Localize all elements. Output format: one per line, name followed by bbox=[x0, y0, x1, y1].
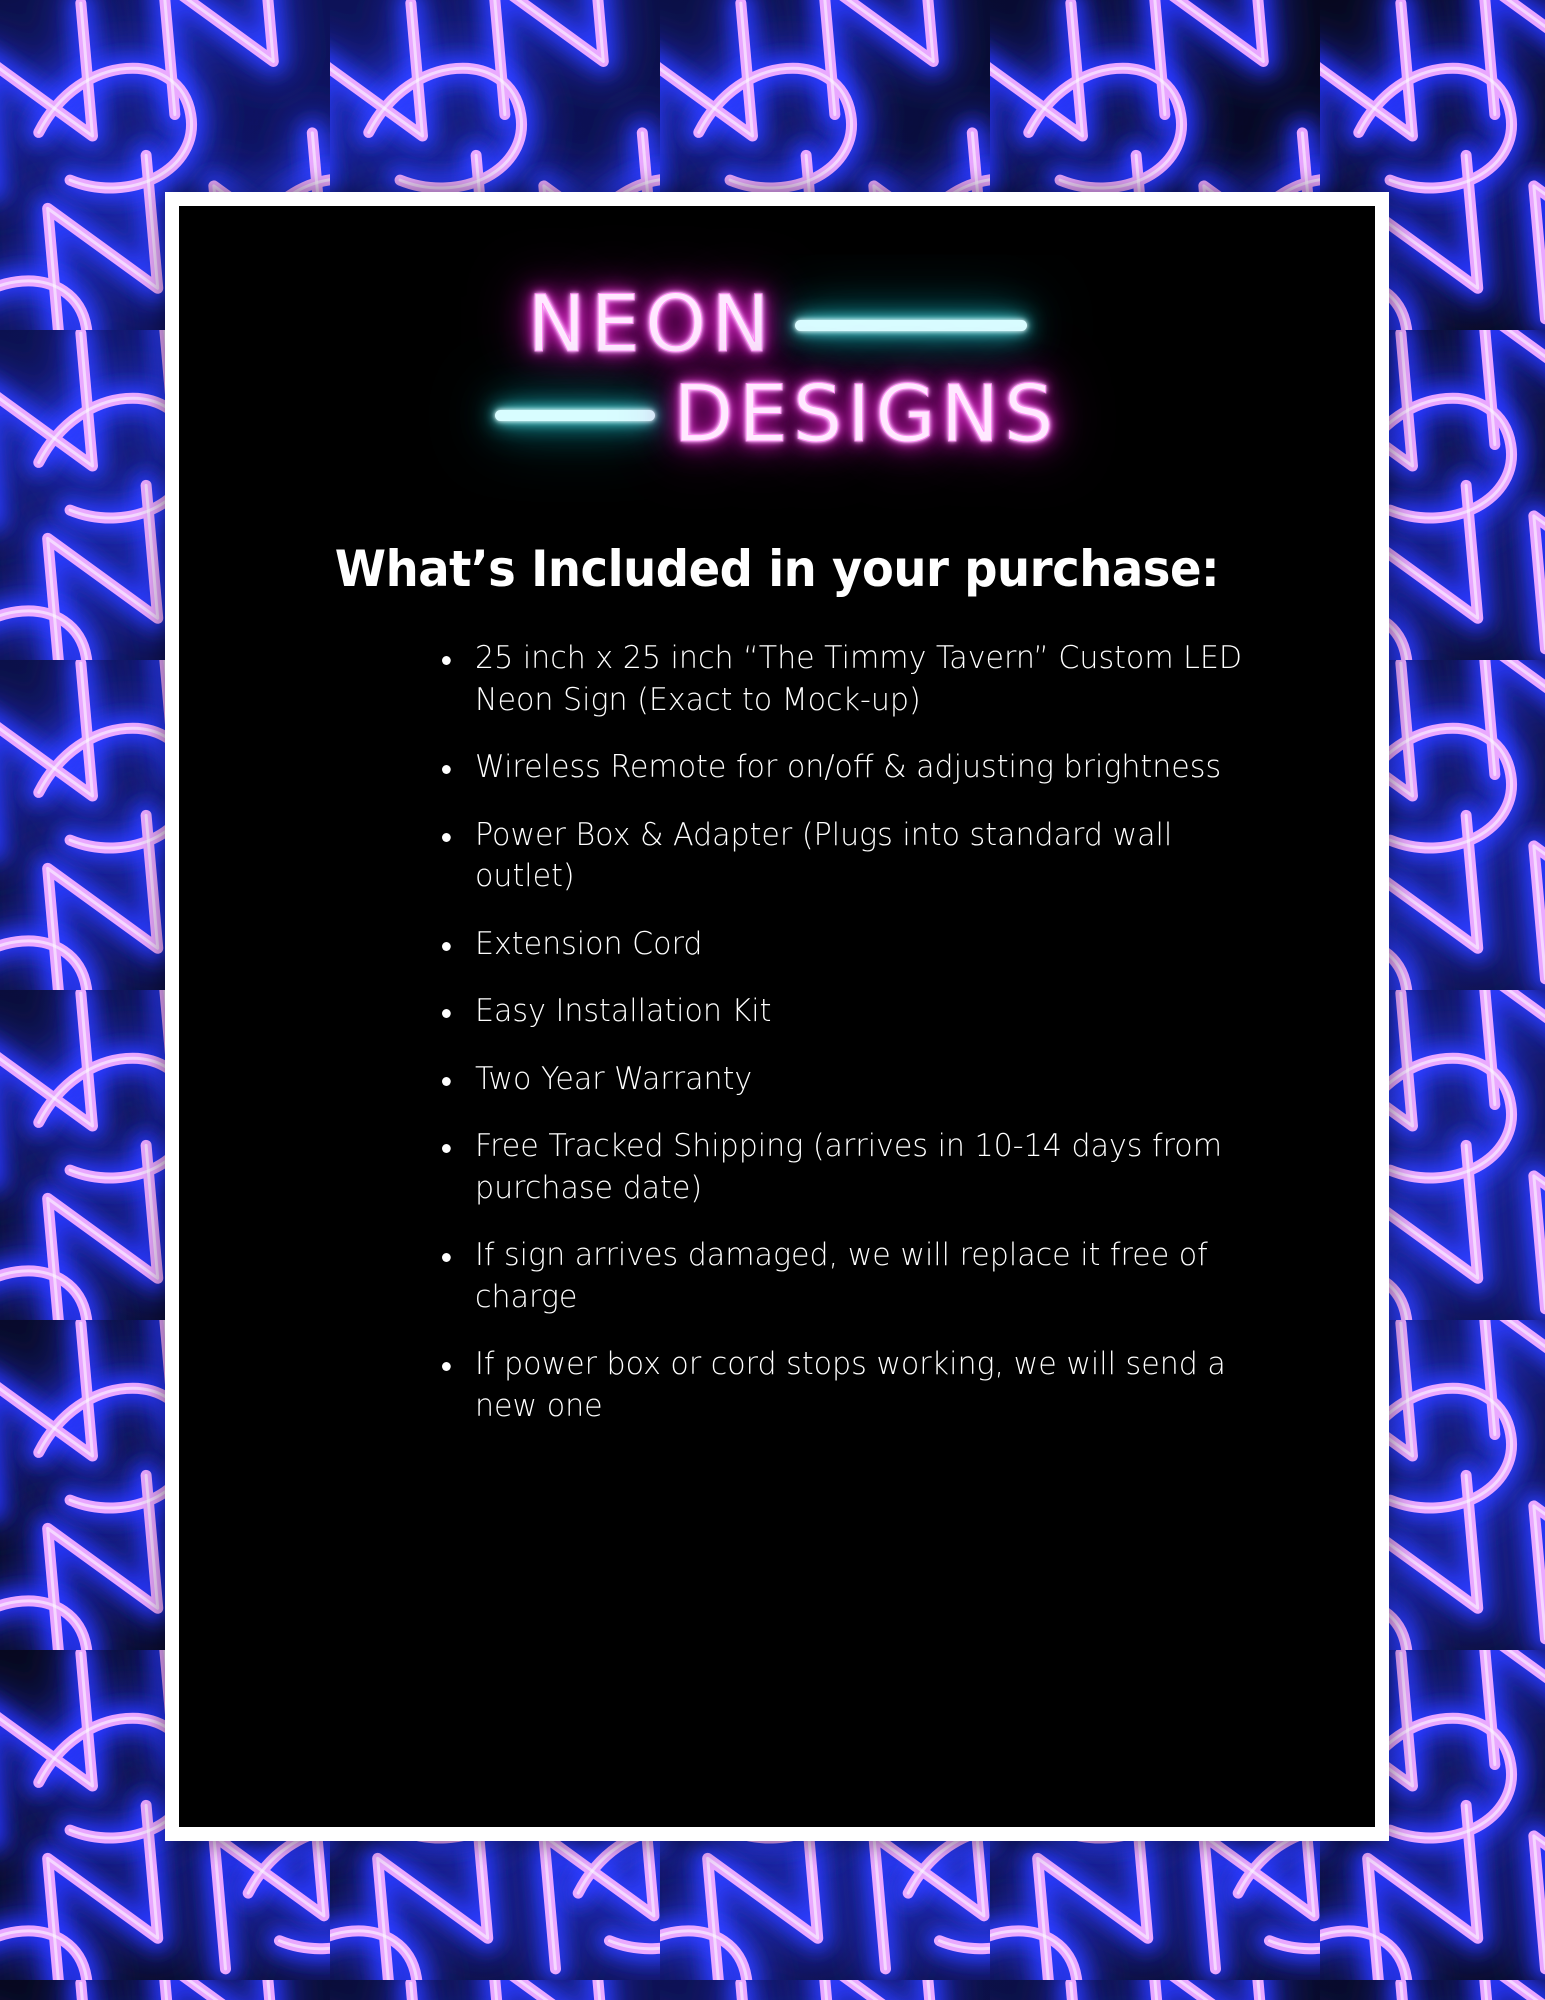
brand-logo: NEON DESIGNS bbox=[179, 258, 1375, 488]
list-item: If power box or cord stops working, we w… bbox=[475, 1344, 1251, 1427]
bullet-dot-icon bbox=[442, 1253, 451, 1262]
page-title: What’s Included in your purchase: bbox=[221, 540, 1333, 598]
list-item: Two Year Warranty bbox=[475, 1059, 1251, 1101]
bullet-dot-icon bbox=[442, 765, 451, 774]
list-item-text: Wireless Remote for on/off & adjusting b… bbox=[475, 749, 1221, 785]
bullet-dot-icon bbox=[442, 1144, 451, 1153]
list-item: Free Tracked Shipping (arrives in 10-14 … bbox=[475, 1126, 1251, 1209]
bullet-dot-icon bbox=[442, 833, 451, 842]
included-items-list: 25 inch x 25 inch “The Timmy Tavern” Cus… bbox=[179, 638, 1375, 1427]
logo-word-designs: DESIGNS bbox=[673, 376, 1058, 454]
list-item-text: 25 inch x 25 inch “The Timmy Tavern” Cus… bbox=[475, 640, 1242, 718]
bullet-dot-icon bbox=[442, 656, 451, 665]
list-item: Wireless Remote for on/off & adjusting b… bbox=[475, 747, 1251, 789]
list-item-text: Two Year Warranty bbox=[475, 1061, 752, 1097]
bullet-dot-icon bbox=[442, 1077, 451, 1086]
list-item: 25 inch x 25 inch “The Timmy Tavern” Cus… bbox=[475, 638, 1251, 721]
list-item-text: Easy Installation Kit bbox=[475, 993, 771, 1029]
list-item-text: If sign arrives damaged, we will replace… bbox=[475, 1237, 1208, 1315]
list-item-text: Extension Cord bbox=[475, 926, 702, 962]
cyan-bar-left-icon bbox=[495, 410, 655, 421]
list-item-text: Free Tracked Shipping (arrives in 10-14 … bbox=[475, 1128, 1222, 1206]
logo-row-bottom: DESIGNS bbox=[179, 376, 1375, 454]
bullet-dot-icon bbox=[442, 942, 451, 951]
list-item: Power Box & Adapter (Plugs into standard… bbox=[475, 815, 1251, 898]
cyan-bar-right-icon bbox=[795, 320, 1027, 331]
bullet-dot-icon bbox=[442, 1009, 451, 1018]
bullet-dot-icon bbox=[442, 1362, 451, 1371]
white-frame: NEON DESIGNS What’s Included in your pur… bbox=[165, 192, 1389, 1841]
list-item: Easy Installation Kit bbox=[475, 991, 1251, 1033]
logo-word-neon: NEON bbox=[527, 286, 774, 364]
logo-row-top: NEON bbox=[179, 286, 1375, 364]
content-card: NEON DESIGNS What’s Included in your pur… bbox=[179, 206, 1375, 1827]
list-item-text: Power Box & Adapter (Plugs into standard… bbox=[475, 817, 1172, 895]
list-item: If sign arrives damaged, we will replace… bbox=[475, 1235, 1251, 1318]
list-item-text: If power box or cord stops working, we w… bbox=[475, 1346, 1226, 1424]
list-item: Extension Cord bbox=[475, 924, 1251, 966]
